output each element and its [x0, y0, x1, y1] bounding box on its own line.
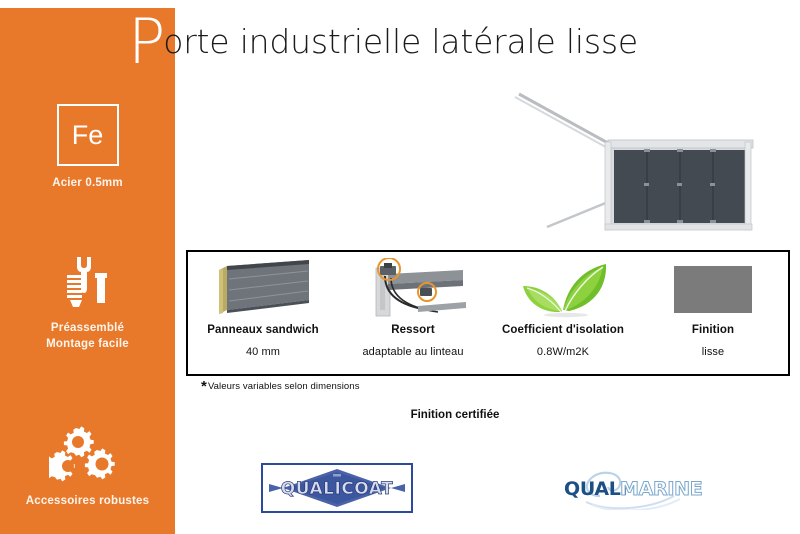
- title-drop-cap: P: [128, 5, 165, 78]
- sectional-industrial-door-image: [495, 88, 760, 233]
- spring-mechanism-icon: [358, 257, 468, 321]
- feature-title: Ressort: [391, 324, 435, 336]
- footnote-asterisk: *: [201, 378, 207, 395]
- fe-symbol-label: Fe: [72, 122, 104, 149]
- feature-title: Panneaux sandwich: [207, 324, 319, 336]
- svg-text:QUALICOAT: QUALICOAT: [281, 479, 393, 499]
- feature-item-finition: Finition lisse: [638, 252, 788, 374]
- svg-text:MARINE: MARINE: [620, 478, 702, 500]
- sidebar-item-preassembled-label-2: Montage facile: [0, 336, 175, 352]
- qualicoat-logo: QUALICOAT: [261, 463, 413, 513]
- sidebar: Fe Acier 0.5mm: [0, 8, 175, 534]
- feature-sub: 40 mm: [246, 346, 280, 358]
- footnote-text: Valeurs variables selon dimensions: [208, 381, 360, 392]
- slide-root: Fe Acier 0.5mm: [0, 0, 800, 534]
- feature-title: Coefficient d'isolation: [502, 324, 624, 336]
- sandwich-panel-icon: [211, 257, 315, 321]
- feature-sub: 0.8W/m2K: [537, 346, 589, 358]
- feature-item-coefficient-isolation: Coefficient d'isolation 0.8W/m2K: [488, 252, 638, 374]
- feature-sub: adaptable au linteau: [362, 346, 463, 358]
- sidebar-item-accessories-label: Accessoires robustes: [0, 493, 175, 509]
- sidebar-item-preassembled-label-1: Préassemblé: [0, 320, 175, 336]
- finish-color-swatch-icon: [674, 257, 752, 321]
- gears-icon: [0, 426, 175, 482]
- sidebar-item-steel: Fe Acier 0.5mm: [0, 104, 175, 191]
- fe-square-icon: Fe: [57, 104, 119, 166]
- finish-swatch: [674, 266, 752, 313]
- feature-item-ressort: Ressort adaptable au linteau: [338, 252, 488, 374]
- green-leaf-icon: [511, 257, 615, 321]
- footnote: *Valeurs variables selon dimensions: [201, 381, 360, 392]
- svg-text:QUALI: QUALI: [564, 478, 627, 500]
- wrench-bolt-icon: [0, 253, 175, 309]
- feature-item-panneaux-sandwich: Panneaux sandwich 40 mm: [188, 252, 338, 374]
- feature-title: Finition: [692, 324, 734, 336]
- title-text: orte industrielle latérale lisse: [163, 22, 638, 61]
- sidebar-item-accessories: Accessoires robustes: [0, 426, 175, 509]
- qualimarine-logo: QUALI MARINE: [556, 466, 706, 510]
- features-panel: Panneaux sandwich 40 mm: [186, 250, 790, 376]
- sidebar-item-preassembled: Préassemblé Montage facile: [0, 253, 175, 352]
- feature-sub: lisse: [702, 346, 725, 358]
- certification-heading: Finition certifiée: [0, 409, 800, 421]
- sidebar-item-steel-label: Acier 0.5mm: [0, 175, 175, 191]
- page-title: Porte industrielle latérale lisse: [128, 22, 638, 61]
